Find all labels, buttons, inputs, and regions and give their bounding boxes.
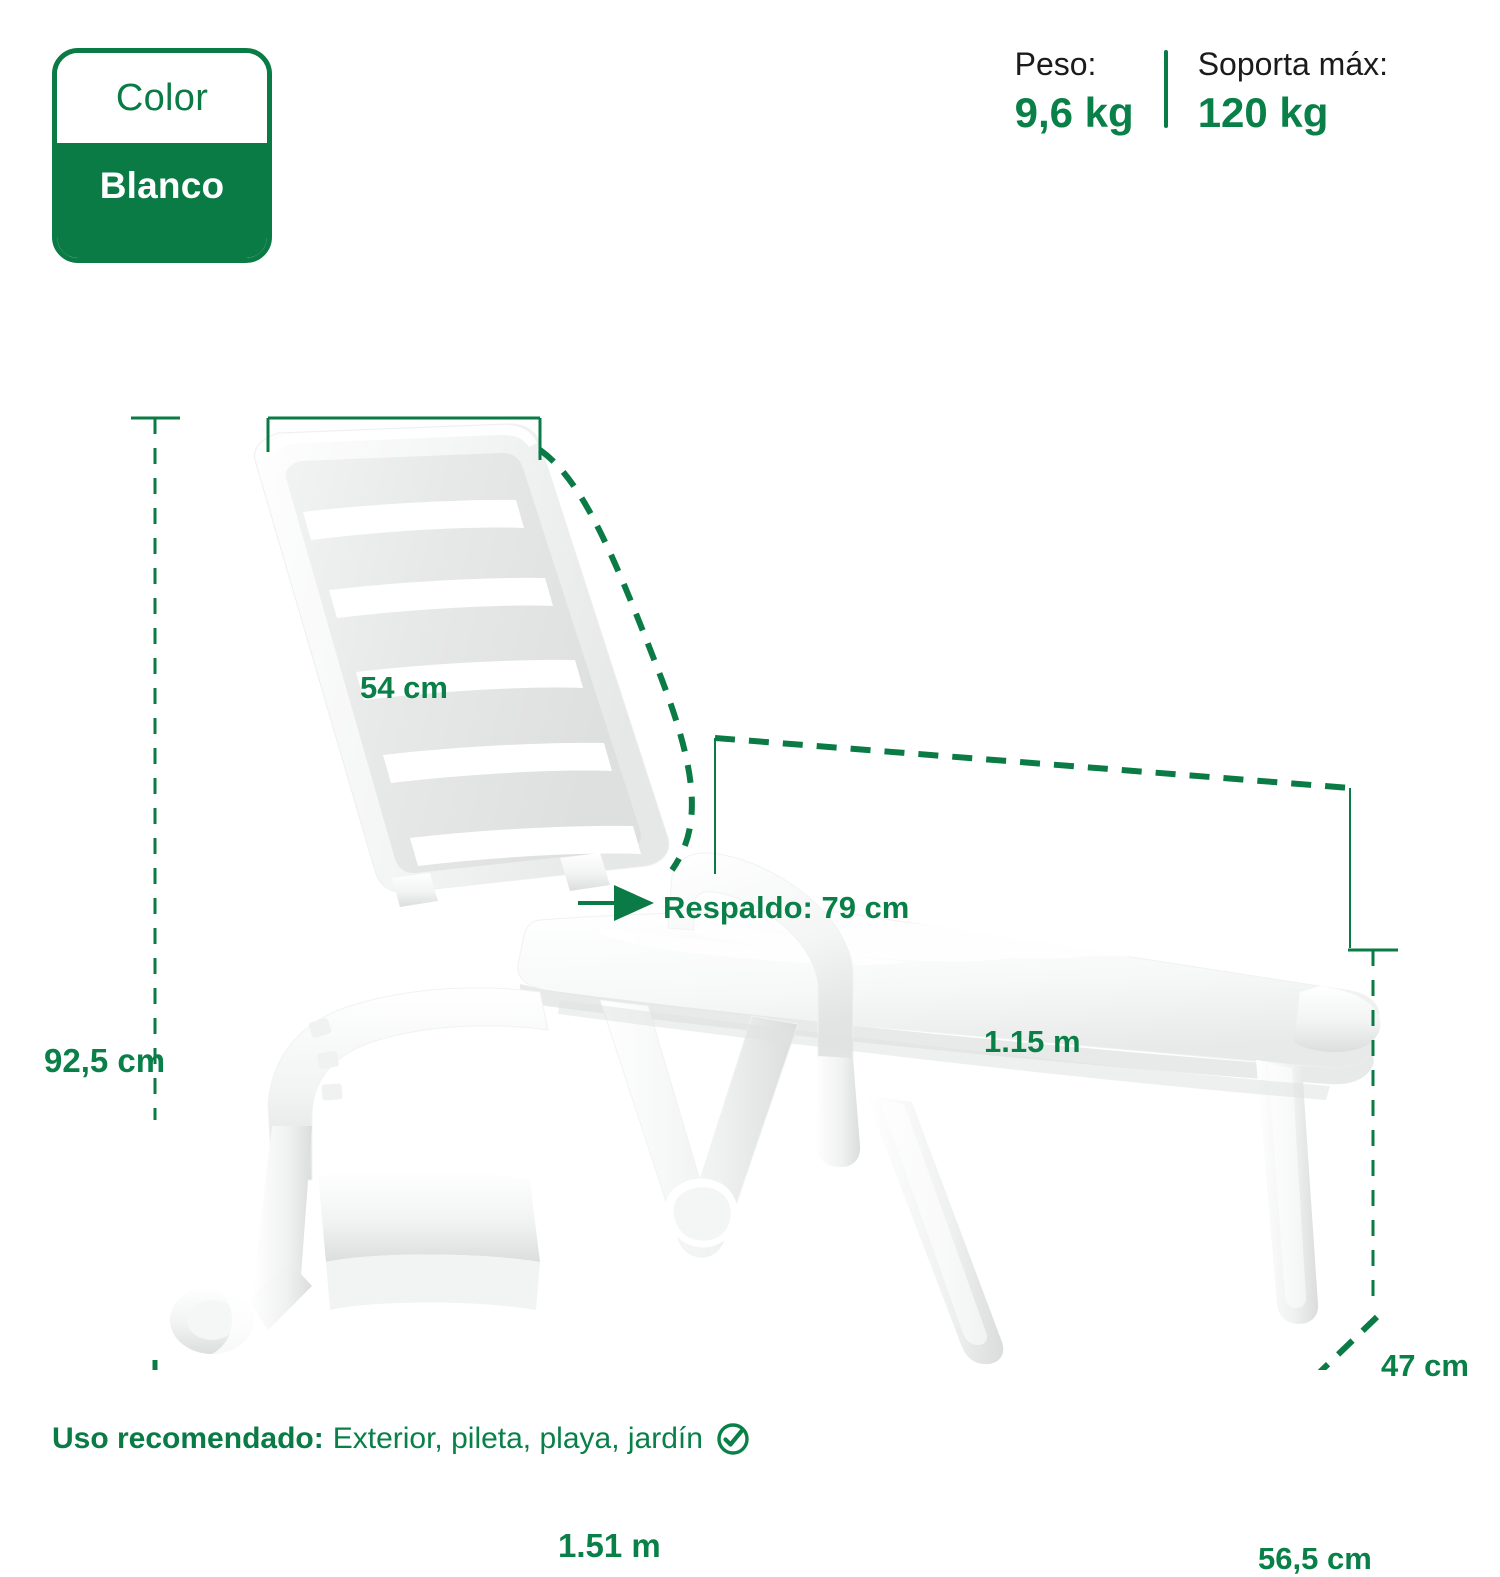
spec-weight: Peso: 9,6 kg: [1015, 44, 1164, 138]
recommended-use: Uso recomendado: Exterior, pileta, playa…: [52, 1422, 750, 1456]
dim-label-depth: 56,5 cm: [1258, 1541, 1372, 1577]
dim-565-line: [1118, 1314, 1380, 1370]
color-badge-title-area: Color: [57, 53, 267, 143]
spec-capacity-label: Soporta máx:: [1198, 44, 1388, 84]
dim-label-seat-length: 1.15 m: [984, 1024, 1081, 1060]
recommended-use-value: Exterior, pileta, playa, jardín: [333, 1422, 703, 1456]
infographic-root: Color Blanco Peso: 9,6 kg Soporta máx: 1…: [0, 0, 1500, 1500]
product-diagram: 54 cm 92,5 cm Respaldo: 79 cm 1.15 m 47 …: [0, 300, 1500, 1370]
spec-capacity: Soporta máx: 120 kg: [1168, 44, 1388, 138]
spec-capacity-value: 120 kg: [1198, 88, 1329, 138]
dim-label-width: 54 cm: [360, 670, 448, 706]
recommended-use-label: Uso recomendado:: [52, 1422, 324, 1456]
spec-weight-value: 9,6 kg: [1015, 88, 1134, 138]
color-badge-title: Color: [116, 77, 208, 120]
color-badge-value-area: Blanco: [57, 143, 267, 258]
color-badge-value: Blanco: [100, 165, 225, 207]
spec-strip: Peso: 9,6 kg Soporta máx: 120 kg: [1015, 44, 1388, 138]
spec-weight-label: Peso:: [1015, 44, 1097, 84]
dim-label-backrest: Respaldo: 79 cm: [663, 890, 909, 926]
color-badge: Color Blanco: [52, 48, 272, 263]
dim-label-total-length: 1.51 m: [558, 1527, 661, 1565]
dim-label-total-height: 92,5 cm: [44, 1042, 165, 1080]
check-circle-icon: [716, 1422, 750, 1456]
dim-115-line: [715, 738, 1350, 788]
dim-label-seat-height: 47 cm: [1381, 1348, 1469, 1384]
